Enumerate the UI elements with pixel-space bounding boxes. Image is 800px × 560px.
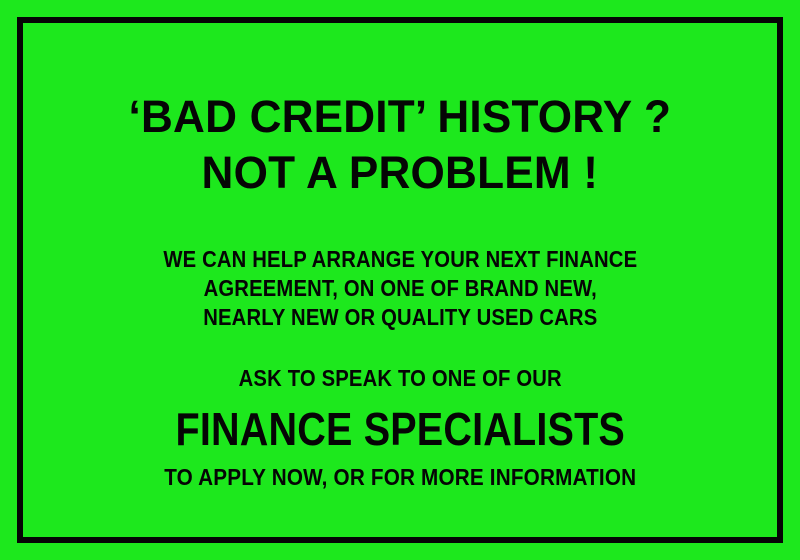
body-line-3: NEARLY NEW OR QUALITY USED CARS	[163, 303, 637, 332]
body-line-1: WE CAN HELP ARRANGE YOUR NEXT FINANCE	[163, 245, 637, 274]
body-paragraph: WE CAN HELP ARRANGE YOUR NEXT FINANCE AG…	[131, 245, 670, 332]
advertisement-poster: ‘BAD CREDIT’ HISTORY ? NOT A PROBLEM ! W…	[0, 0, 800, 560]
headline-block: ‘BAD CREDIT’ HISTORY ? NOT A PROBLEM !	[123, 89, 677, 201]
headline-line-2: NOT A PROBLEM !	[129, 145, 672, 201]
cta-feature-line: FINANCE SPECIALISTS	[174, 399, 625, 459]
cta-lead-in-line: ASK TO SPEAK TO ONE OF OUR	[169, 364, 631, 393]
headline-line-1: ‘BAD CREDIT’ HISTORY ?	[129, 89, 672, 145]
call-to-action-block: ASK TO SPEAK TO ONE OF OUR FINANCE SPECI…	[138, 364, 663, 492]
cta-footer-line: TO APPLY NOW, OR FOR MORE INFORMATION	[164, 463, 636, 492]
body-line-2: AGREEMENT, ON ONE OF BRAND NEW,	[163, 274, 637, 303]
poster-content: ‘BAD CREDIT’ HISTORY ? NOT A PROBLEM ! W…	[23, 23, 777, 537]
